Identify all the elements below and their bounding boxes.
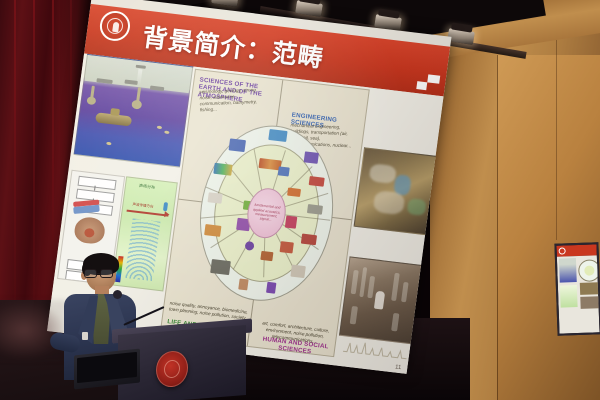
outer-thumb (204, 224, 221, 237)
outer-thumb (210, 259, 231, 275)
wall-seam (497, 55, 498, 400)
side-confidence-monitor (554, 242, 600, 335)
historical-crowd-photo (339, 256, 423, 344)
segment-thumb (260, 251, 273, 261)
microphone-icon (113, 290, 122, 299)
wheel-of-acoustics: SCIENCES OF THE EARTH AND OF THE ATMOSPH… (159, 69, 369, 357)
name-badge (82, 332, 88, 340)
outer-thumb (307, 204, 323, 215)
spotlight-icon (211, 0, 239, 7)
segment-thumb (287, 188, 301, 197)
glasses-icon (84, 269, 117, 279)
auditorium-scene: 背景简介：范畴 (0, 0, 600, 400)
zigzag-mark-icon (416, 73, 440, 91)
outer-thumb (229, 138, 246, 152)
slide-page-number: 11 (395, 365, 402, 372)
university-seal-icon (98, 9, 132, 42)
wheel-hub-text: fundamental and applied acoustics, measu… (248, 202, 286, 224)
underwater-acoustics-illustration (74, 54, 194, 168)
outer-thumb (268, 129, 287, 142)
segment-thumb (278, 166, 290, 176)
foreground-blur (0, 300, 66, 360)
wood-wall-panel (497, 55, 600, 400)
outer-thumb (301, 234, 317, 246)
outer-thumb (266, 282, 276, 294)
segment-thumb (285, 216, 298, 229)
outer-thumb (309, 176, 325, 187)
wheel-rings: fundamental and applied acoustics, measu… (187, 96, 345, 325)
presenter-laptop (74, 349, 140, 390)
outer-thumb (213, 163, 232, 176)
vehicle-interior-photo (354, 147, 438, 235)
outer-thumb (290, 265, 305, 279)
segment-thumb (280, 241, 294, 253)
outer-thumb (207, 192, 222, 204)
outer-thumb (304, 151, 319, 164)
outer-thumb (238, 278, 248, 290)
